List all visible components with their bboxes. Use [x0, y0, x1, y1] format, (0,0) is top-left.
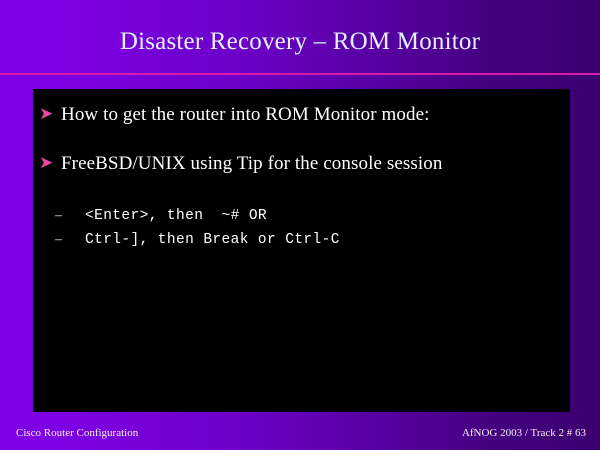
dash-bullet-icon: –	[55, 229, 85, 250]
arrow-bullet-icon: ➤	[39, 151, 61, 176]
arrow-bullet-icon: ➤	[39, 102, 61, 127]
bullet-item-2: ➤ FreeBSD/UNIX using Tip for the console…	[39, 151, 442, 176]
sub-item-1-code: <Enter>, then ~# OR	[85, 206, 267, 227]
bullet-item-1-label: How to get the router into ROM Monitor m…	[61, 102, 430, 127]
footer-left-label: Cisco Router Configuration	[16, 426, 138, 440]
sub-item-2: – Ctrl-], then Break or Ctrl-C	[55, 229, 340, 251]
content-panel: ➤ How to get the router into ROM Monitor…	[33, 89, 570, 412]
slide: Disaster Recovery – ROM Monitor ➤ How to…	[0, 0, 600, 450]
sub-item-2-code: Ctrl-], then Break or Ctrl-C	[85, 230, 340, 251]
sub-item-1: – <Enter>, then ~# OR	[55, 205, 340, 227]
sub-item-list: – <Enter>, then ~# OR – Ctrl-], then Bre…	[55, 205, 340, 253]
bullet-item-2-label: FreeBSD/UNIX using Tip for the console s…	[61, 151, 442, 176]
title-divider	[0, 73, 600, 75]
dash-bullet-icon: –	[55, 205, 85, 226]
page-title: Disaster Recovery – ROM Monitor	[0, 27, 600, 57]
footer-right-label: AfNOG 2003 / Track 2 # 63	[462, 426, 586, 440]
title-band: Disaster Recovery – ROM Monitor	[0, 0, 600, 73]
bullet-item-1: ➤ How to get the router into ROM Monitor…	[39, 102, 430, 127]
